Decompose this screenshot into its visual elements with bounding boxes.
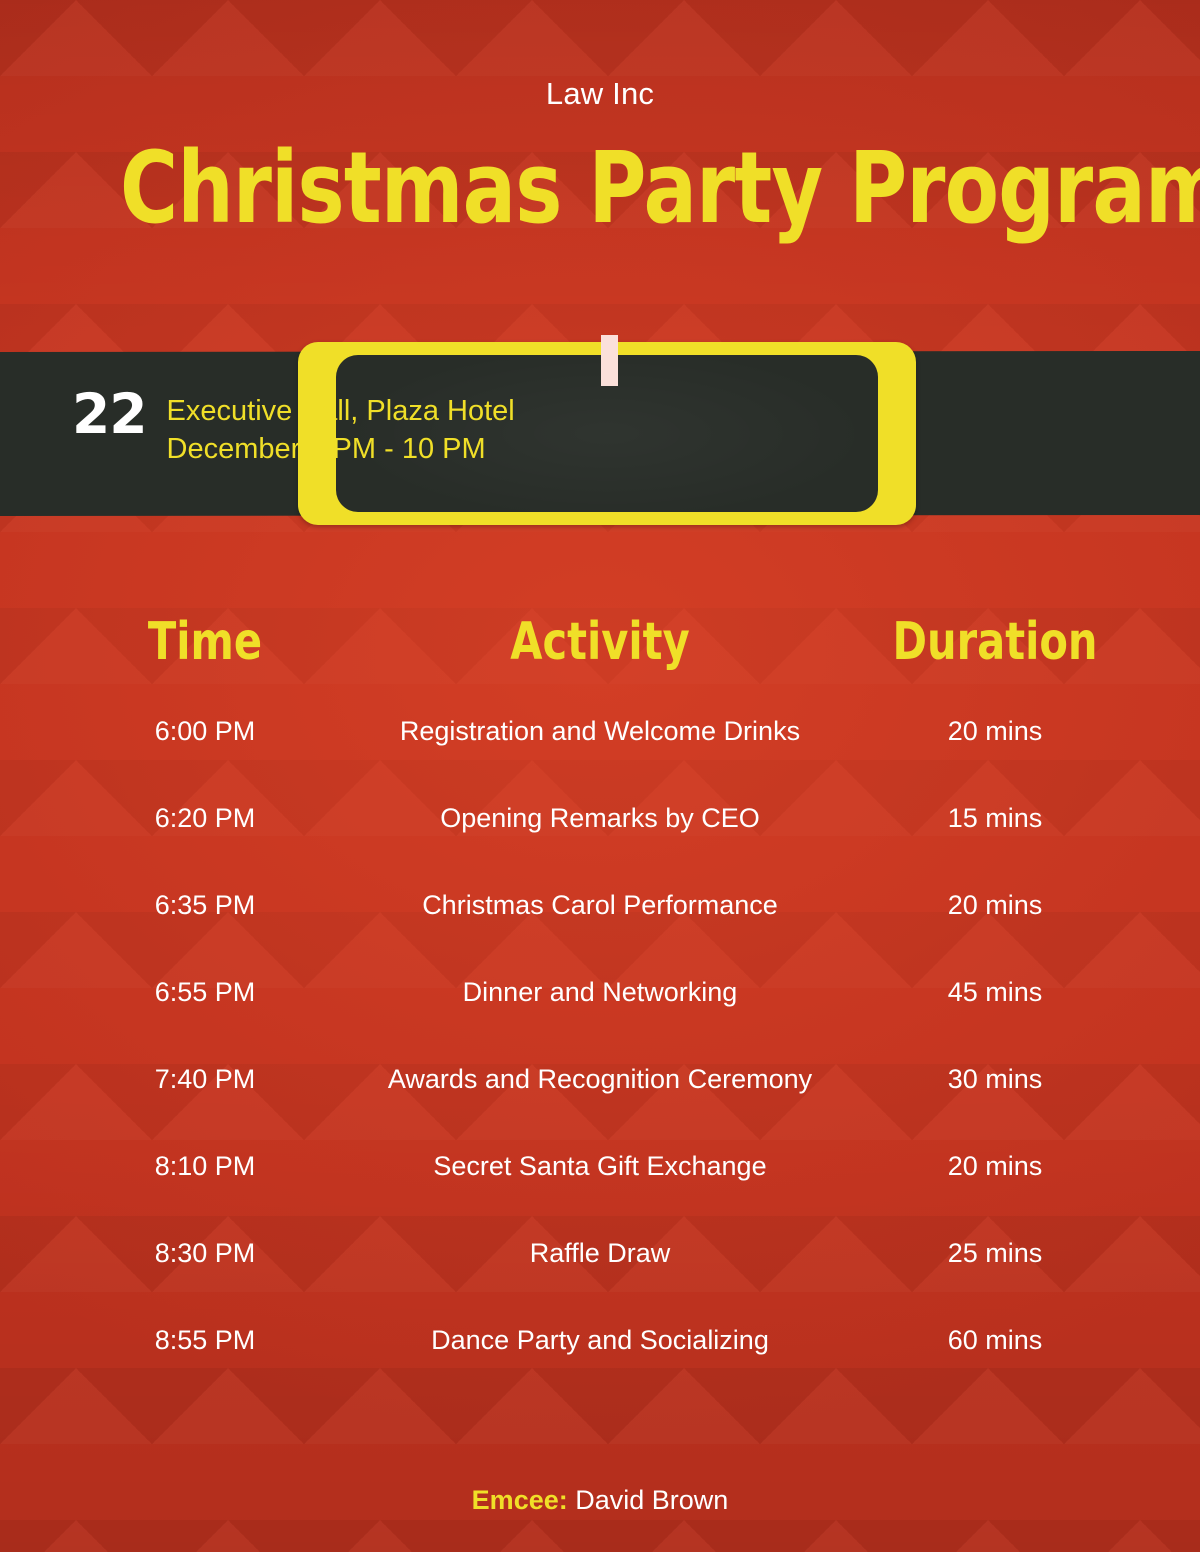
cell-activity: Secret Santa Gift Exchange xyxy=(350,1150,850,1182)
cell-duration: 25 mins xyxy=(850,1237,1140,1269)
cell-activity: Opening Remarks by CEO xyxy=(350,802,850,834)
cell-duration: 45 mins xyxy=(850,976,1140,1008)
emcee-label: Emcee: xyxy=(472,1485,568,1515)
cell-duration: 20 mins xyxy=(850,1150,1140,1182)
poster-header: Law Inc Christmas Party Program xyxy=(0,0,1200,238)
company-name: Law Inc xyxy=(0,78,1200,109)
christmas-party-program-poster: Law Inc Christmas Party Program 22 Execu… xyxy=(0,0,1200,1552)
event-text-block: Executive Hall, Plaza Hotel December 6 P… xyxy=(167,392,515,469)
schedule-table: Time Activity Duration 6:00 PM Registrat… xyxy=(0,596,1200,1384)
table-row: 7:40 PM Awards and Recognition Ceremony … xyxy=(60,1036,1140,1123)
cell-duration: 60 mins xyxy=(850,1324,1140,1356)
cell-time: 8:30 PM xyxy=(60,1237,350,1269)
table-row: 6:55 PM Dinner and Networking 45 mins xyxy=(60,949,1140,1036)
column-header-duration: Duration xyxy=(879,616,1111,668)
page-title: Christmas Party Program xyxy=(120,139,1080,238)
cell-time: 7:40 PM xyxy=(60,1063,350,1095)
table-row: 6:35 PM Christmas Carol Performance 20 m… xyxy=(60,862,1140,949)
event-datetime: December 6 PM - 10 PM xyxy=(167,430,515,468)
cell-duration: 30 mins xyxy=(850,1063,1140,1095)
cell-duration: 15 mins xyxy=(850,802,1140,834)
table-header-row: Time Activity Duration xyxy=(60,596,1140,688)
cell-activity: Registration and Welcome Drinks xyxy=(350,715,850,747)
cell-time: 6:55 PM xyxy=(60,976,350,1008)
poster-footer: Emcee: David Brown xyxy=(0,1485,1200,1516)
cell-activity: Christmas Carol Performance xyxy=(350,889,850,921)
event-venue: Executive Hall, Plaza Hotel xyxy=(167,392,515,430)
table-row: 6:00 PM Registration and Welcome Drinks … xyxy=(60,688,1140,775)
cell-time: 6:00 PM xyxy=(60,715,350,747)
table-row: 8:30 PM Raffle Draw 25 mins xyxy=(60,1210,1140,1297)
event-details: 22 Executive Hall, Plaza Hotel December … xyxy=(72,392,515,469)
belt-prong-icon xyxy=(601,335,618,386)
cell-time: 8:55 PM xyxy=(60,1324,350,1356)
cell-time: 6:20 PM xyxy=(60,802,350,834)
table-row: 8:55 PM Dance Party and Socializing 60 m… xyxy=(60,1297,1140,1384)
emcee-name: David Brown xyxy=(575,1485,728,1515)
cell-activity: Dance Party and Socializing xyxy=(350,1324,850,1356)
table-row: 6:20 PM Opening Remarks by CEO 15 mins xyxy=(60,775,1140,862)
column-header-time: Time xyxy=(89,616,321,668)
cell-duration: 20 mins xyxy=(850,889,1140,921)
cell-duration: 20 mins xyxy=(850,715,1140,747)
cell-activity: Awards and Recognition Ceremony xyxy=(350,1063,850,1095)
cell-activity: Raffle Draw xyxy=(350,1237,850,1269)
cell-time: 6:35 PM xyxy=(60,889,350,921)
table-row: 8:10 PM Secret Santa Gift Exchange 20 mi… xyxy=(60,1123,1140,1210)
column-header-activity: Activity xyxy=(400,616,800,668)
santa-belt: 22 Executive Hall, Plaza Hotel December … xyxy=(0,330,1200,540)
cell-time: 8:10 PM xyxy=(60,1150,350,1182)
cell-activity: Dinner and Networking xyxy=(350,976,850,1008)
event-day-number: 22 xyxy=(72,388,147,440)
